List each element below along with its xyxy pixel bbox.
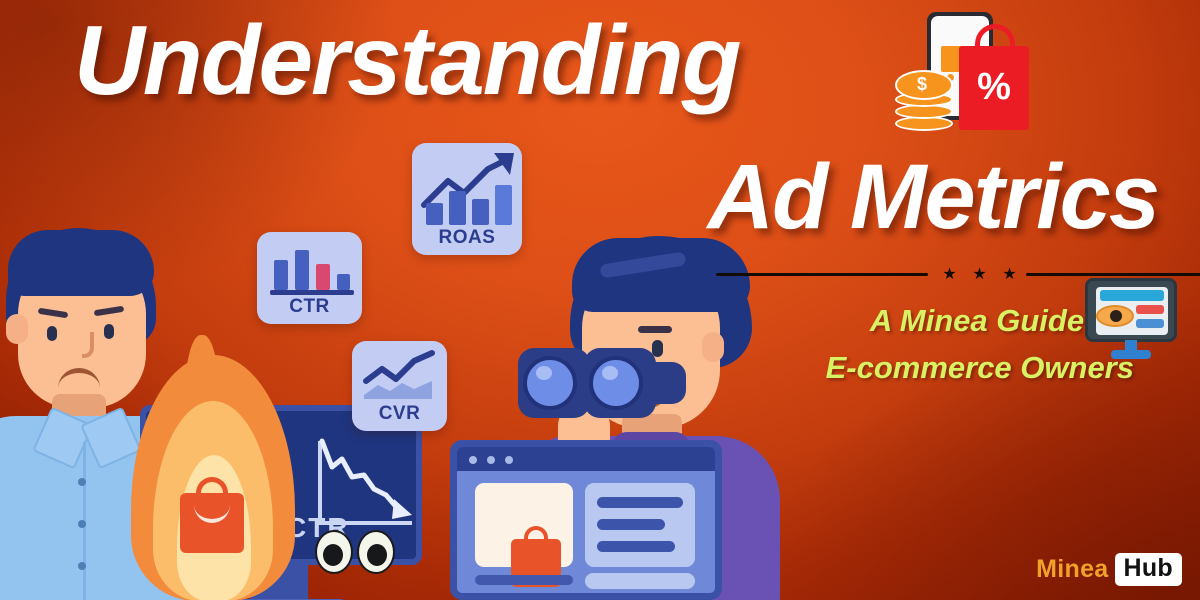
metric-card-cvr[interactable]: CVR	[352, 341, 447, 431]
product-image-card	[475, 483, 573, 567]
page-subtitle: A Minea Guide for E-commerce Owners	[714, 298, 1134, 391]
googly-eyes-icon	[315, 530, 397, 578]
ecommerce-icon: $ %	[895, 12, 1037, 138]
line-area-chart-icon	[356, 347, 444, 407]
star-icon: ★	[972, 267, 987, 282]
dollar-symbol: $	[917, 74, 927, 95]
metric-card-label: CVR	[352, 403, 447, 425]
bar-chart-up-arrow-icon	[414, 147, 522, 229]
logo-word-minea: Minea	[1036, 555, 1108, 584]
bar-chart-icon	[260, 238, 360, 300]
subtitle-line1: A Minea Guide for	[714, 298, 1134, 345]
star-icon: ★	[1002, 267, 1017, 282]
window-dot-icon	[505, 456, 513, 464]
window-dot-icon	[487, 456, 495, 464]
percent-symbol: %	[959, 66, 1029, 109]
page-title-line2: Ad Metrics	[708, 148, 1158, 247]
browser-frame	[450, 440, 722, 600]
metric-card-label: CTR	[257, 296, 362, 318]
star-icon: ★	[942, 267, 957, 282]
browser-title-bar	[457, 447, 715, 471]
page-title-line1: Understanding	[74, 8, 739, 114]
action-bar	[585, 573, 695, 589]
flame-icon	[125, 335, 300, 600]
binoculars-icon	[518, 348, 678, 418]
subtitle-line2: E-commerce Owners	[714, 345, 1134, 392]
ad-spy-monitor-icon	[1085, 278, 1177, 364]
metric-card-label: ROAS	[412, 227, 522, 249]
metric-card-roas[interactable]: ROAS	[412, 143, 522, 255]
shopping-bag-icon	[180, 493, 244, 553]
coin-stack-icon: $	[895, 70, 957, 132]
caption-bar	[475, 575, 573, 585]
window-dot-icon	[469, 456, 477, 464]
minea-hub-logo[interactable]: Minea Hub	[1036, 553, 1182, 586]
product-detail-panel	[585, 483, 695, 567]
discount-bag-icon: %	[959, 46, 1029, 130]
logo-word-hub: Hub	[1115, 553, 1183, 586]
metric-card-ctr[interactable]: CTR	[257, 232, 362, 324]
product-page-browser-mock	[450, 440, 722, 600]
banner-canvas: CTR	[0, 0, 1200, 600]
